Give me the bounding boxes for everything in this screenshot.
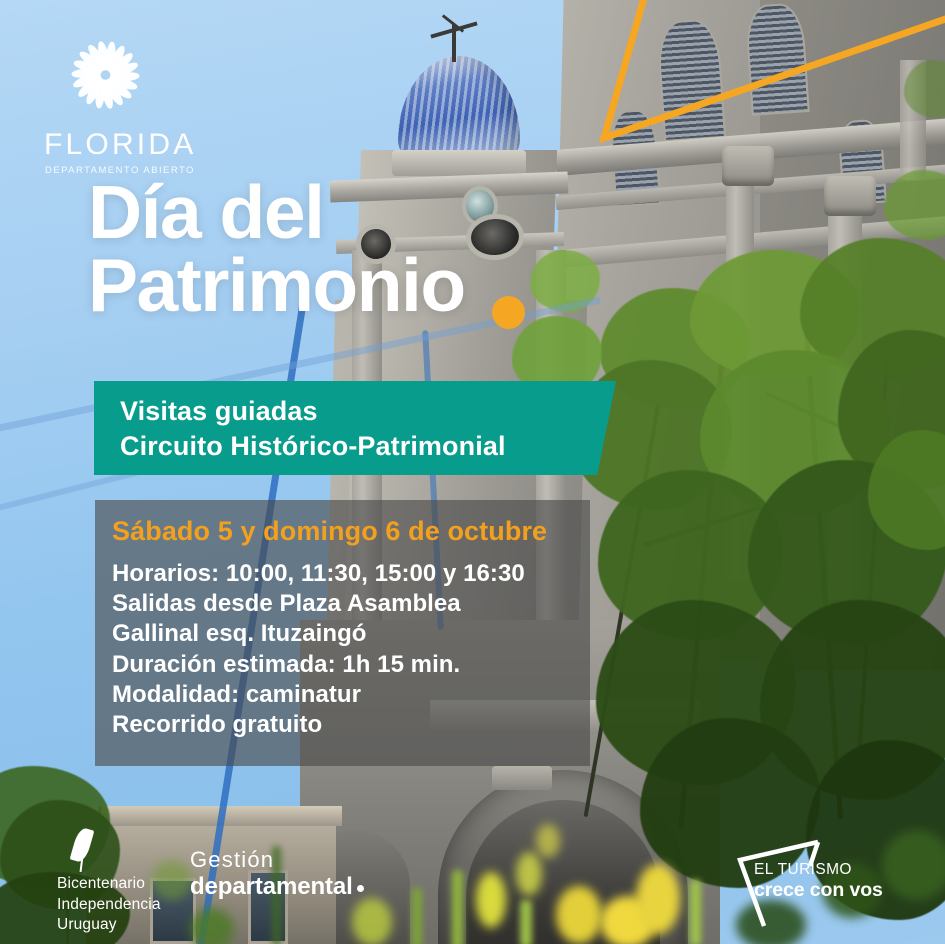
orange-dot-icon bbox=[492, 296, 525, 329]
page-title: Día del Patrimonio bbox=[88, 176, 465, 322]
pilaster bbox=[828, 180, 862, 600]
gestion-line-2: departamental bbox=[190, 873, 364, 901]
pilaster bbox=[726, 150, 754, 580]
side-building-roof bbox=[80, 806, 342, 826]
title-line-2: Patrimonio bbox=[88, 249, 465, 322]
detail-line-price: Recorrido gratuito bbox=[112, 710, 590, 740]
title-line-1: Día del bbox=[88, 176, 465, 249]
gestion-departamental-logo: Gestión departamental bbox=[190, 848, 364, 901]
gestion-dot-icon bbox=[357, 885, 364, 892]
detail-line-modality: Modalidad: caminatur bbox=[112, 680, 590, 710]
column-capital bbox=[824, 176, 876, 216]
detail-line-duration: Duración estimada: 1h 15 min. bbox=[112, 650, 590, 680]
details-panel: Sábado 5 y domingo 6 de octubre Horarios… bbox=[95, 500, 590, 766]
event-date: Sábado 5 y domingo 6 de octubre bbox=[112, 516, 590, 547]
florida-sun-icon bbox=[58, 32, 144, 118]
teal-banner: Visitas guiadas Circuito Histórico-Patri… bbox=[94, 381, 616, 475]
banner-line-2: Circuito Histórico-Patrimonial bbox=[120, 429, 616, 464]
poster: FLORIDA DEPARTAMENTO ABIERTO Día del Pat… bbox=[0, 0, 945, 944]
dome-base bbox=[392, 150, 526, 176]
column-capital bbox=[722, 146, 774, 186]
detail-line-address: Gallinal esq. Ituzaingó bbox=[112, 619, 590, 649]
pilaster bbox=[900, 60, 926, 180]
banner-line-1: Visitas guiadas bbox=[120, 394, 616, 429]
entrance-plaque bbox=[492, 766, 552, 790]
turismo-line-1: EL TURISMO bbox=[754, 861, 852, 879]
brand-name: FLORIDA bbox=[40, 128, 230, 162]
bicentenario-line-2: Independencia bbox=[57, 895, 207, 916]
turismo-logo: EL TURISMO crece con vos bbox=[718, 838, 898, 930]
gestion-line-2-text: departamental bbox=[190, 873, 353, 900]
detail-line-departure: Salidas desde Plaza Asamblea bbox=[112, 589, 590, 619]
gestion-line-1: Gestión bbox=[190, 848, 364, 872]
bicentenario-leaf-icon bbox=[67, 828, 97, 872]
detail-line-schedule: Horarios: 10:00, 11:30, 15:00 y 16:30 bbox=[112, 559, 590, 589]
turismo-line-2: crece con vos bbox=[754, 879, 883, 902]
bicentenario-logo: Bicentenario Independencia Uruguay bbox=[57, 828, 207, 936]
bicentenario-line-1: Bicentenario bbox=[57, 874, 207, 895]
bicentenario-line-3: Uruguay bbox=[57, 915, 207, 936]
florida-brand: FLORIDA DEPARTAMENTO ABIERTO bbox=[40, 32, 230, 176]
